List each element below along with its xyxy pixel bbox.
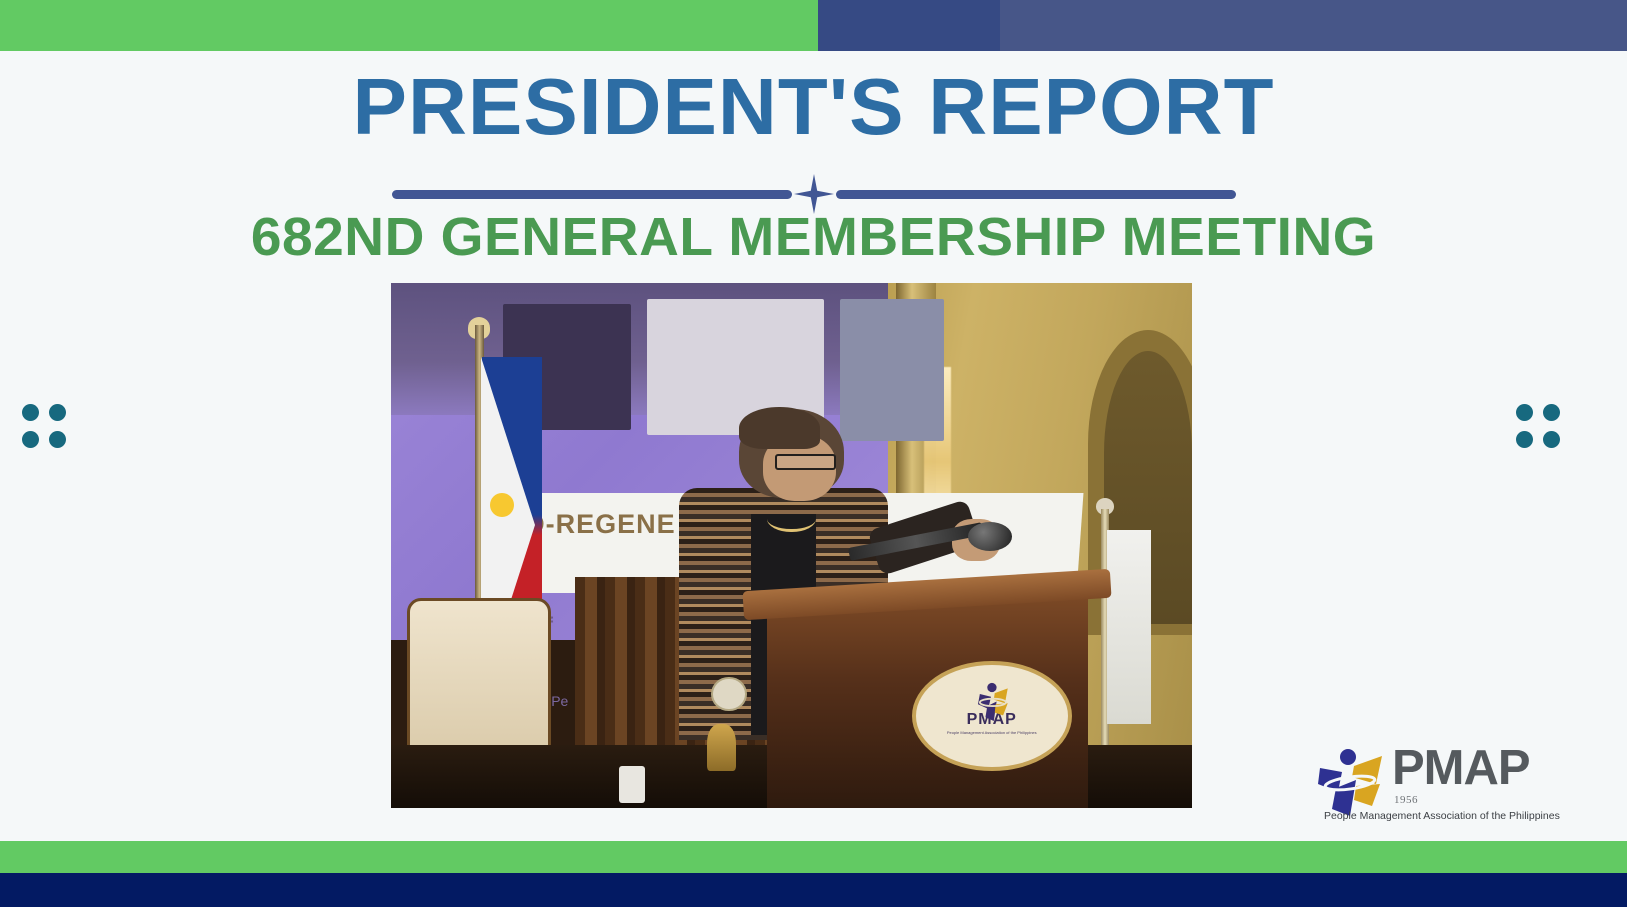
dot-grid-left bbox=[22, 404, 66, 448]
white-flag bbox=[1107, 530, 1151, 724]
projected-thumbnail bbox=[840, 299, 944, 441]
dot bbox=[1543, 431, 1560, 448]
pmap-wordmark: PMAP bbox=[1392, 744, 1530, 793]
divider-line-right bbox=[836, 190, 1236, 199]
top-accent-bar bbox=[0, 0, 1627, 51]
title-block: PRESIDENT'S REPORT bbox=[0, 66, 1627, 148]
microphone-head bbox=[968, 522, 1012, 551]
pmap-logo: PMAP 1956 People Management Association … bbox=[1316, 742, 1546, 832]
dot bbox=[22, 431, 39, 448]
event-photo: CO-REGENE Ref Pe PMAP People Manageme bbox=[391, 283, 1192, 808]
speaker-glasses bbox=[775, 454, 835, 471]
bottom-bar-navy bbox=[0, 873, 1627, 907]
page-title: PRESIDENT'S REPORT bbox=[0, 66, 1627, 148]
podium-pmap-subtext: People Management Association of the Phi… bbox=[947, 730, 1037, 735]
projected-footline: Pe bbox=[551, 693, 568, 709]
bottom-bar-green bbox=[0, 841, 1627, 873]
dot bbox=[49, 404, 66, 421]
page-subtitle: 682ND GENERAL MEMBERSHIP MEETING bbox=[0, 206, 1627, 268]
dot bbox=[49, 431, 66, 448]
divider-line-left bbox=[392, 190, 792, 199]
dot bbox=[1516, 431, 1533, 448]
speaker-fringe bbox=[739, 407, 819, 449]
dot bbox=[22, 404, 39, 421]
podium-cup bbox=[619, 766, 645, 803]
podium-badge bbox=[711, 677, 746, 711]
pmap-tagline: People Management Association of the Phi… bbox=[1324, 810, 1550, 822]
pmap-logo-mark bbox=[1316, 746, 1388, 816]
top-bar-slate-segment bbox=[1000, 0, 1627, 51]
podium-trophy bbox=[707, 724, 736, 771]
top-bar-green-segment bbox=[0, 0, 818, 51]
pmap-founding-year: 1956 bbox=[1394, 794, 1418, 806]
dot bbox=[1516, 404, 1533, 421]
podium-pmap-sign: PMAP People Management Association of th… bbox=[912, 661, 1072, 771]
top-bar-navy-segment bbox=[818, 0, 1000, 51]
dot-grid-right bbox=[1516, 404, 1560, 448]
dot bbox=[1543, 404, 1560, 421]
speaker-necklace bbox=[767, 506, 815, 532]
podium-pmap-mark bbox=[967, 681, 1019, 722]
